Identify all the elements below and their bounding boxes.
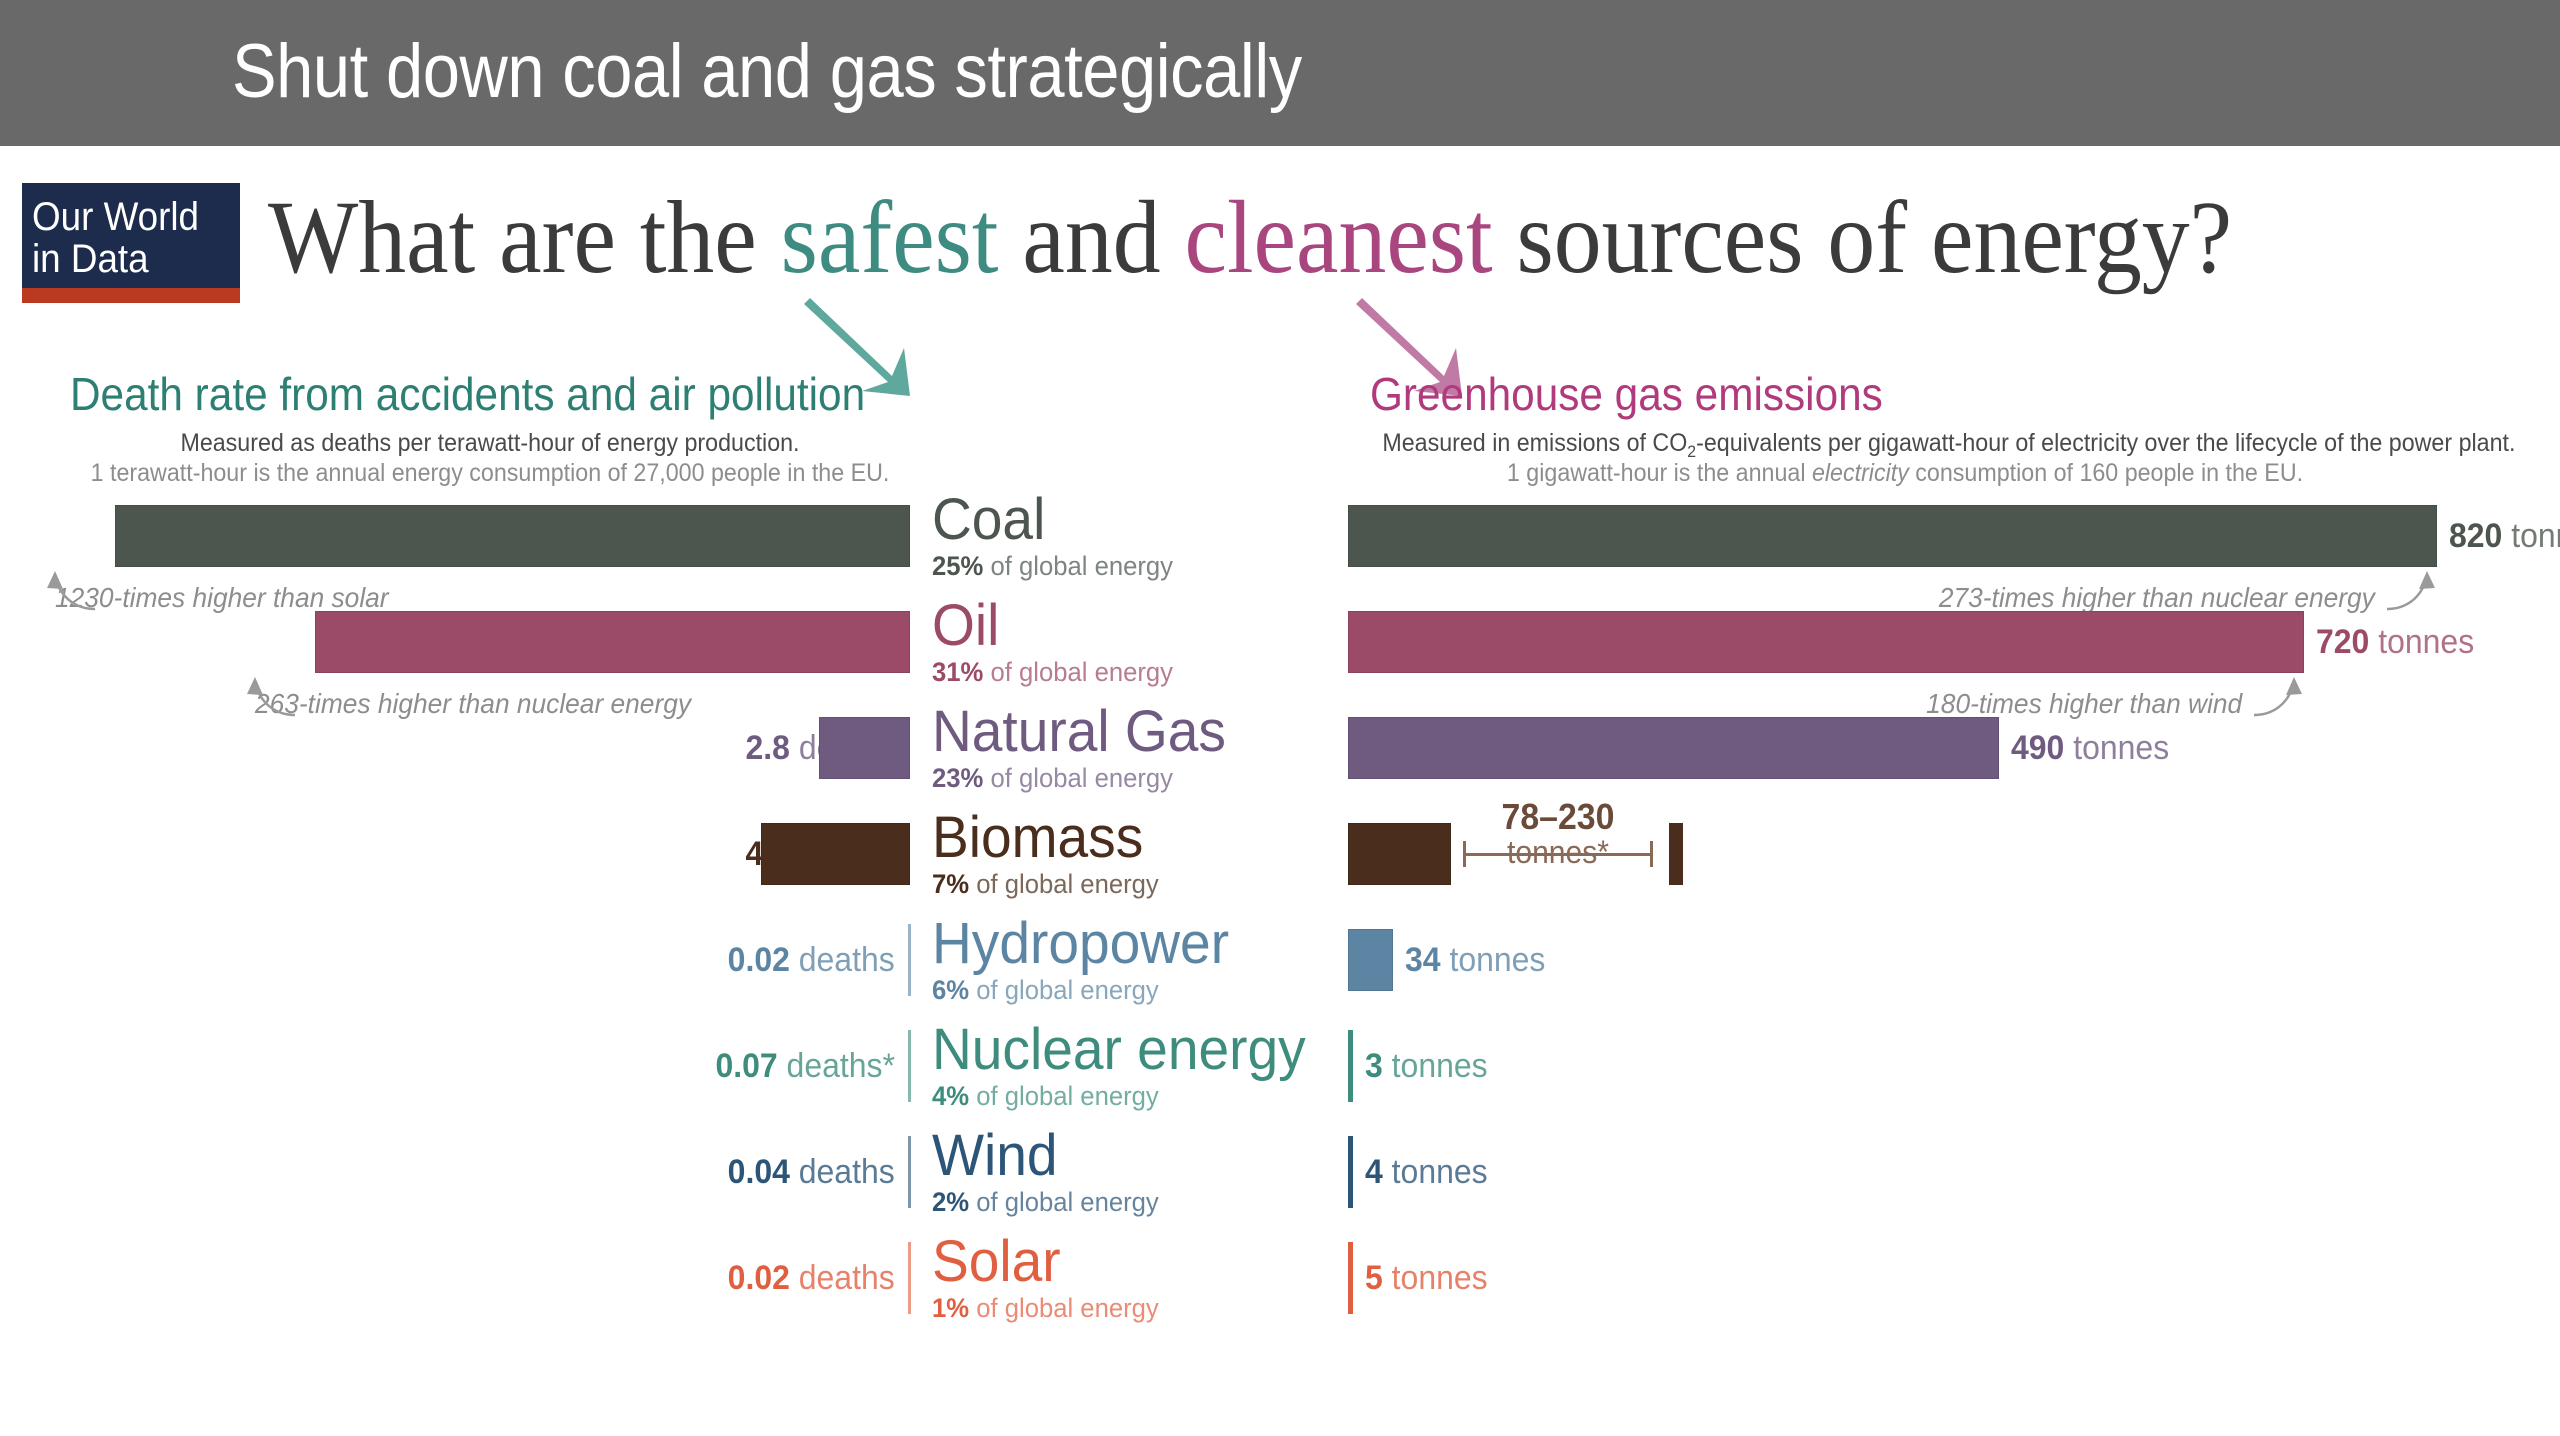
emissions-range-max-bar bbox=[1669, 823, 1683, 885]
emissions-unit: tonnes bbox=[2502, 517, 2560, 555]
energy-source-share: 6% of global energy bbox=[932, 974, 1229, 1006]
energy-source-label: Nuclear energy4% of global energy bbox=[932, 1022, 1325, 1112]
energy-source-share: 7% of global energy bbox=[932, 868, 1159, 900]
emissions-unit: tonnes bbox=[1441, 941, 1546, 979]
share-suffix: of global energy bbox=[969, 869, 1159, 899]
emissions-unit: tonnes bbox=[1383, 1153, 1488, 1191]
emissions-number: 720 bbox=[2316, 623, 2369, 661]
our-world-in-data-logo: Our World in Data bbox=[22, 183, 240, 303]
death-rate-tick bbox=[908, 1030, 911, 1102]
energy-source-name: Natural Gas bbox=[932, 704, 1226, 760]
death-rate-unit: deaths bbox=[790, 1153, 895, 1191]
energy-source-name: Wind bbox=[932, 1128, 1159, 1184]
annotation-leader-icon bbox=[37, 569, 101, 617]
energy-source-name: Oil bbox=[932, 598, 1173, 654]
share-suffix: of global energy bbox=[969, 1081, 1159, 1111]
energy-source-share: 1% of global energy bbox=[932, 1292, 1159, 1324]
slide-title-banner: Shut down coal and gas strategically bbox=[0, 0, 2560, 146]
emissions-value: 34 tonnes bbox=[1405, 943, 1545, 977]
death-rate-value: 0.07 deaths* bbox=[716, 1049, 895, 1083]
share-suffix: of global energy bbox=[969, 975, 1159, 1005]
right-sub2-a: 1 gigawatt-hour is the annual bbox=[1507, 459, 1812, 487]
share-percent: 4% bbox=[932, 1081, 969, 1111]
emissions-value: 720 tonnes bbox=[2316, 625, 2474, 659]
logo-line-1: Our World bbox=[32, 196, 214, 238]
energy-source-label: Oil31% of global energy bbox=[932, 598, 1186, 688]
share-percent: 2% bbox=[932, 1187, 969, 1217]
death-rate-value: 0.02 deaths bbox=[728, 1261, 895, 1295]
emissions-unit: tonnes bbox=[1383, 1259, 1488, 1297]
emissions-number: 34 bbox=[1405, 941, 1441, 979]
death-rate-unit: deaths bbox=[790, 1259, 895, 1297]
death-rate-number: 2.8 bbox=[746, 729, 790, 767]
emissions-range-value: 78–230 bbox=[1469, 799, 1648, 835]
emissions-number: 820 bbox=[2449, 517, 2502, 555]
energy-source-label: Hydropower6% of global energy bbox=[932, 916, 1245, 1006]
energy-source-label: Natural Gas23% of global energy bbox=[932, 704, 1241, 794]
energy-source-name: Coal bbox=[932, 492, 1173, 548]
annotation-leader-icon bbox=[2248, 675, 2312, 723]
emissions-unit: tonnes bbox=[2369, 623, 2474, 661]
emissions-range-unit: tonnes* bbox=[1469, 835, 1648, 869]
range-cap-end bbox=[1650, 841, 1653, 867]
emissions-value: 490 tonnes bbox=[2011, 731, 2169, 765]
headline-part-3: sources of energy? bbox=[1493, 180, 2232, 295]
emissions-number: 3 bbox=[1365, 1047, 1383, 1085]
death-rate-bar bbox=[115, 505, 910, 567]
share-suffix: of global energy bbox=[983, 657, 1173, 687]
death-rate-number: 0.07 bbox=[716, 1047, 778, 1085]
slide-title: Shut down coal and gas strategically bbox=[232, 24, 1302, 120]
emissions-tick bbox=[1348, 1136, 1353, 1208]
death-rate-annotation: 1230-times higher than solar bbox=[55, 583, 389, 613]
emissions-unit: tonnes bbox=[2064, 729, 2169, 767]
emissions-bar bbox=[1348, 611, 2304, 673]
emissions-bar bbox=[1348, 929, 1393, 991]
left-column-subtitle-2: 1 terawatt-hour is the annual energy con… bbox=[72, 458, 909, 489]
right-column-subtitle-2: 1 gigawatt-hour is the annual electricit… bbox=[1380, 458, 2431, 489]
death-rate-bar bbox=[315, 611, 910, 673]
death-rate-bar bbox=[819, 717, 910, 779]
emissions-number: 490 bbox=[2011, 729, 2064, 767]
death-rate-number: 0.04 bbox=[728, 1153, 790, 1191]
share-percent: 31% bbox=[932, 657, 983, 687]
headline-part-2: and bbox=[999, 180, 1185, 295]
energy-source-label: Coal25% of global energy bbox=[932, 492, 1186, 582]
headline-safest: safest bbox=[781, 180, 999, 295]
emissions-annotation: 180-times higher than wind bbox=[1926, 689, 2242, 719]
death-rate-value: 0.04 deaths bbox=[728, 1155, 895, 1189]
right-sub1-b: -equivalents per gigawatt-hour of electr… bbox=[1696, 429, 2515, 457]
energy-source-share: 25% of global energy bbox=[932, 550, 1173, 582]
energy-source-name: Hydropower bbox=[932, 916, 1229, 972]
left-column-title: Death rate from accidents and air pollut… bbox=[70, 368, 865, 420]
share-suffix: of global energy bbox=[969, 1187, 1159, 1217]
energy-source-share: 23% of global energy bbox=[932, 762, 1226, 794]
share-suffix: of global energy bbox=[969, 1293, 1159, 1323]
headline-part-1: What are the bbox=[268, 180, 781, 295]
emissions-tick bbox=[1348, 1030, 1353, 1102]
emissions-annotation: 273-times higher than nuclear energy bbox=[1939, 583, 2375, 613]
left-column-header: Death rate from accidents and air pollut… bbox=[70, 368, 934, 420]
range-cap-start bbox=[1463, 841, 1466, 867]
emissions-bar bbox=[1348, 505, 2437, 567]
energy-source-label: Wind2% of global energy bbox=[932, 1128, 1171, 1218]
energy-source-share: 2% of global energy bbox=[932, 1186, 1159, 1218]
page-title: What are the safest and cleanest sources… bbox=[268, 178, 2232, 298]
right-column-header: Greenhouse gas emissions bbox=[1370, 368, 1927, 420]
share-percent: 23% bbox=[932, 763, 983, 793]
slide-root: Shut down coal and gas strategically Our… bbox=[0, 0, 2560, 1436]
emissions-number: 5 bbox=[1365, 1259, 1383, 1297]
share-percent: 6% bbox=[932, 975, 969, 1005]
headline-cleanest: cleanest bbox=[1185, 180, 1493, 295]
share-percent: 1% bbox=[932, 1293, 969, 1323]
share-percent: 25% bbox=[932, 551, 983, 581]
death-rate-value: 0.02 deaths bbox=[728, 943, 895, 977]
emissions-tick bbox=[1348, 1242, 1353, 1314]
emissions-value: 3 tonnes bbox=[1365, 1049, 1488, 1083]
annotation-leader-icon bbox=[2381, 569, 2445, 617]
emissions-value: 5 tonnes bbox=[1365, 1261, 1488, 1295]
death-rate-number: 0.02 bbox=[728, 1259, 790, 1297]
range-line bbox=[1463, 853, 1653, 856]
emissions-unit: tonnes bbox=[1383, 1047, 1488, 1085]
right-sub1-a: Measured in emissions of CO bbox=[1382, 429, 1687, 457]
death-rate-tick bbox=[908, 924, 911, 996]
share-suffix: of global energy bbox=[983, 763, 1173, 793]
emissions-range-bracket: 78–230tonnes* bbox=[1463, 799, 1653, 869]
energy-source-share: 4% of global energy bbox=[932, 1080, 1306, 1112]
left-column-subtitle-1: Measured as deaths per terawatt-hour of … bbox=[99, 428, 880, 459]
emissions-bar bbox=[1348, 823, 1451, 885]
annotation-leader-icon bbox=[237, 675, 301, 723]
death-rate-number: 0.02 bbox=[728, 941, 790, 979]
emissions-bar bbox=[1348, 717, 1999, 779]
logo-red-bar bbox=[22, 288, 240, 303]
share-percent: 7% bbox=[932, 869, 969, 899]
energy-source-name: Biomass bbox=[932, 810, 1159, 866]
right-sub2-emphasis: electricity bbox=[1812, 459, 1909, 487]
emissions-value: 4 tonnes bbox=[1365, 1155, 1488, 1189]
share-suffix: of global energy bbox=[983, 551, 1173, 581]
emissions-value: 820 tonnes bbox=[2449, 519, 2560, 553]
energy-source-label: Biomass7% of global energy bbox=[932, 810, 1171, 900]
energy-source-share: 31% of global energy bbox=[932, 656, 1173, 688]
logo-line-2: in Data bbox=[32, 238, 214, 280]
death-rate-annotation: 263-times higher than nuclear energy bbox=[255, 689, 691, 719]
right-column-title: Greenhouse gas emissions bbox=[1370, 368, 1883, 420]
right-sub2-b: consumption of 160 people in the EU. bbox=[1909, 459, 2303, 487]
energy-source-label: Solar1% of global energy bbox=[932, 1234, 1171, 1324]
emissions-number: 4 bbox=[1365, 1153, 1383, 1191]
energy-source-name: Solar bbox=[932, 1234, 1159, 1290]
death-rate-tick bbox=[908, 1136, 911, 1208]
death-rate-tick bbox=[908, 1242, 911, 1314]
death-rate-unit: deaths* bbox=[778, 1047, 895, 1085]
death-rate-unit: deaths bbox=[790, 941, 895, 979]
energy-source-name: Nuclear energy bbox=[932, 1022, 1306, 1078]
death-rate-bar bbox=[761, 823, 910, 885]
